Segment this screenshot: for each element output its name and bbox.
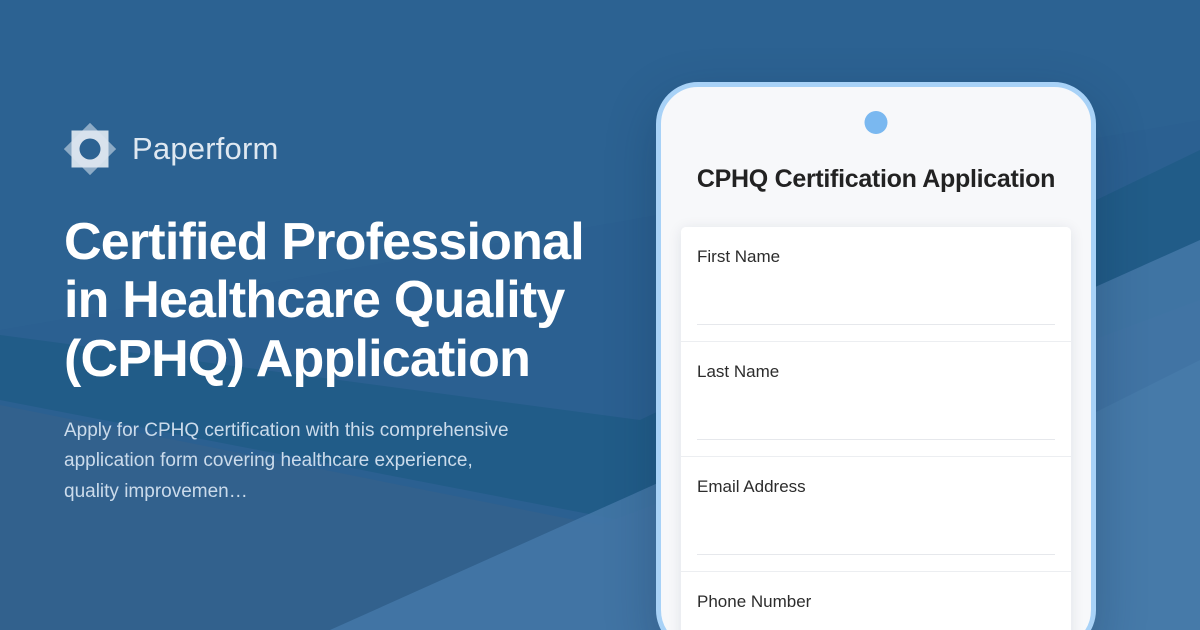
page-description: Apply for CPHQ certification with this c… [64, 416, 524, 507]
last-name-input[interactable] [697, 439, 1055, 440]
social-card-canvas: Paperform Certified Professional in Heal… [0, 0, 1200, 630]
field-label-last-name: Last Name [697, 362, 1055, 382]
camera-dot-icon [865, 111, 888, 134]
email-address-input[interactable] [697, 554, 1055, 555]
page-title: Certified Professional in Healthcare Qua… [64, 213, 604, 388]
first-name-input[interactable] [697, 324, 1055, 325]
paperform-star-logo-icon [64, 123, 116, 175]
form-field-list: First Name Last Name Email Address Phone… [681, 227, 1071, 630]
form-field-first-name[interactable]: First Name [681, 227, 1071, 342]
field-label-first-name: First Name [697, 247, 1055, 267]
field-label-email-address: Email Address [697, 477, 1055, 497]
form-field-phone-number[interactable]: Phone Number [681, 572, 1071, 630]
brand-name: Paperform [132, 131, 279, 167]
form-title: CPHQ Certification Application [661, 165, 1091, 194]
form-field-last-name[interactable]: Last Name [681, 342, 1071, 457]
field-label-phone-number: Phone Number [697, 592, 1055, 612]
phone-mockup: CPHQ Certification Application First Nam… [656, 82, 1096, 630]
hero-content: Paperform Certified Professional in Heal… [64, 0, 624, 630]
form-field-email-address[interactable]: Email Address [681, 457, 1071, 572]
brand-lockup: Paperform [64, 123, 624, 175]
